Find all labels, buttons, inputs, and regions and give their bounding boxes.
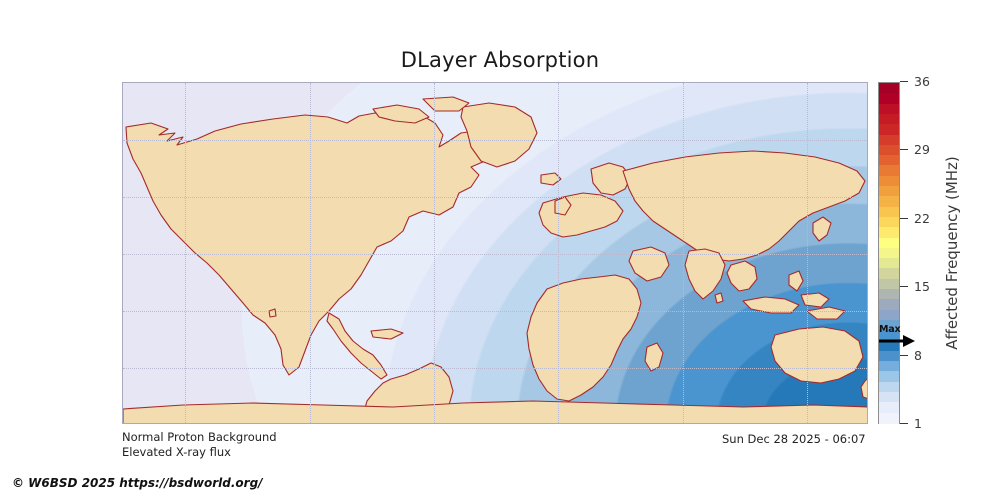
colorbar-axis-label: Affected Frequency (MHz) (941, 82, 963, 424)
colorbar-band (879, 279, 899, 290)
page-root: DLayer Absorption (0, 0, 1000, 500)
colorbar-band (879, 217, 899, 228)
colorbar-tick-mark (900, 355, 908, 356)
copyright-footer: © W6BSD 2025 https://bsdworld.org/ (12, 476, 263, 490)
colorbar-band (879, 93, 899, 104)
colorbar-band (879, 124, 899, 135)
colorbar-band (879, 392, 899, 403)
colorbar-band (879, 258, 899, 269)
colorbar-tick-mark (900, 149, 908, 150)
colorbar-tick-label: 22 (914, 210, 930, 228)
colorbar-band (879, 227, 899, 238)
colorbar-band (879, 289, 899, 300)
colorbar-tick-mark (900, 286, 908, 287)
colorbar-band (879, 351, 899, 362)
world-map-svg (123, 83, 868, 424)
colorbar-tick-mark (900, 423, 908, 424)
map-plot[interactable] (122, 82, 868, 424)
colorbar-band (879, 361, 899, 372)
colorbar-band (879, 83, 899, 94)
status-line-proton: Normal Proton Background (122, 430, 277, 445)
colorbar-band (879, 207, 899, 218)
colorbar-band (879, 371, 899, 382)
colorbar-tick-mark (900, 81, 908, 82)
colorbar-tick-label: 36 (914, 73, 930, 91)
colorbar-tick-label: 1 (914, 415, 922, 433)
colorbar-tick-mark (900, 218, 908, 219)
map-canvas (123, 83, 867, 423)
colorbar-band (879, 413, 899, 424)
colorbar-band (879, 186, 899, 197)
colorbar-band (879, 104, 899, 115)
colorbar-band (879, 248, 899, 259)
colorbar-band (879, 299, 899, 310)
colorbar-band (879, 135, 899, 146)
colorbar-gradient (878, 82, 900, 424)
colorbar-band (879, 176, 899, 187)
colorbar-band (879, 155, 899, 166)
colorbar-band (879, 238, 899, 249)
colorbar-band (879, 268, 899, 279)
max-marker: Max (879, 325, 919, 349)
status-text: Normal Proton Background Elevated X-ray … (122, 430, 277, 460)
colorbar[interactable] (878, 82, 900, 424)
timestamp-label: Sun Dec 28 2025 - 06:07 (722, 432, 866, 446)
colorbar-band (879, 402, 899, 413)
colorbar-band (879, 145, 899, 156)
colorbar-band (879, 310, 899, 321)
max-marker-label: Max (879, 325, 900, 335)
colorbar-band (879, 165, 899, 176)
colorbar-tick-label: 29 (914, 141, 930, 159)
page-title: DLayer Absorption (0, 48, 1000, 72)
status-line-xray: Elevated X-ray flux (122, 445, 277, 460)
colorbar-tick-label: 15 (914, 278, 930, 296)
arrow-right-icon (879, 335, 915, 349)
colorbar-band (879, 114, 899, 125)
colorbar-tick-label: 8 (914, 347, 922, 365)
colorbar-band (879, 382, 899, 393)
colorbar-band (879, 196, 899, 207)
